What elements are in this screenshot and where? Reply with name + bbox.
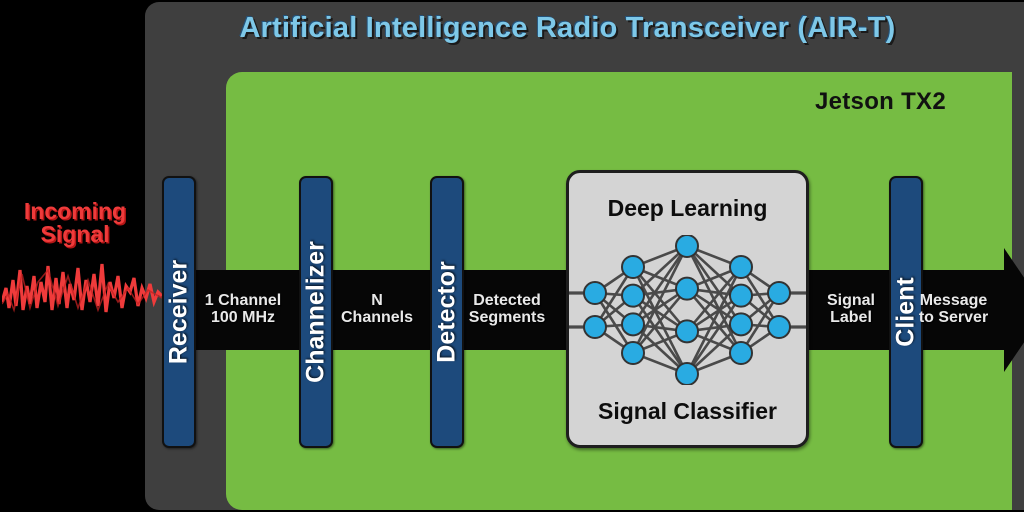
- arrow-label-line1: Detected: [469, 293, 545, 310]
- arrow-label-line1: Signal: [827, 293, 875, 310]
- classifier-title-bottom: Signal Classifier: [569, 398, 806, 425]
- red-signal-waveform-icon: [2, 258, 162, 322]
- incoming-signal-label-line2: Signal: [2, 223, 148, 246]
- arrow-label: N Channels: [341, 293, 413, 327]
- arrow-label-line2: Channels: [341, 310, 413, 327]
- arrow-label-line1: 1 Channel: [205, 293, 281, 310]
- module-receiver-label: Receiver: [165, 260, 194, 364]
- arrow-label: Signal Label: [827, 293, 875, 327]
- arrow-receiver-to-channelizer: 1 Channel 100 MHz: [178, 270, 308, 350]
- arrow-label-line1: Message: [919, 293, 988, 310]
- arrow-label: Message to Server: [919, 293, 988, 327]
- module-receiver[interactable]: Receiver: [162, 176, 196, 448]
- jetson-board-label: Jetson TX2: [815, 88, 946, 116]
- module-client-label: Client: [892, 277, 921, 346]
- arrow-label-line1: N: [341, 293, 413, 310]
- module-channelizer-label: Channelizer: [302, 241, 331, 383]
- classifier-title-top: Deep Learning: [569, 195, 806, 222]
- arrow-classifier-to-client: Signal Label: [801, 270, 901, 350]
- module-detector[interactable]: Detector: [430, 176, 464, 448]
- arrow-label-line2: 100 MHz: [205, 310, 281, 327]
- arrow-label-line2: Segments: [469, 310, 545, 327]
- module-detector-label: Detector: [433, 261, 462, 362]
- arrow-label-line2: to Server: [919, 310, 988, 327]
- incoming-signal-label-line1: Incoming: [2, 200, 148, 223]
- incoming-signal-group: Incoming Signal: [2, 200, 148, 247]
- deep-learning-signal-classifier-panel[interactable]: Deep Learning Signal Classifier: [566, 170, 809, 448]
- module-channelizer[interactable]: Channelizer: [299, 176, 333, 448]
- neural-network-icon: [569, 235, 806, 385]
- arrow-label: Detected Segments: [469, 293, 545, 327]
- page-title: Artificial Intelligence Radio Transceive…: [145, 8, 990, 48]
- arrow-head-icon: [1004, 248, 1024, 372]
- arrow-label-line2: Label: [827, 310, 875, 327]
- diagram-canvas: Artificial Intelligence Radio Transceive…: [0, 0, 1024, 512]
- arrow-label: 1 Channel 100 MHz: [205, 293, 281, 327]
